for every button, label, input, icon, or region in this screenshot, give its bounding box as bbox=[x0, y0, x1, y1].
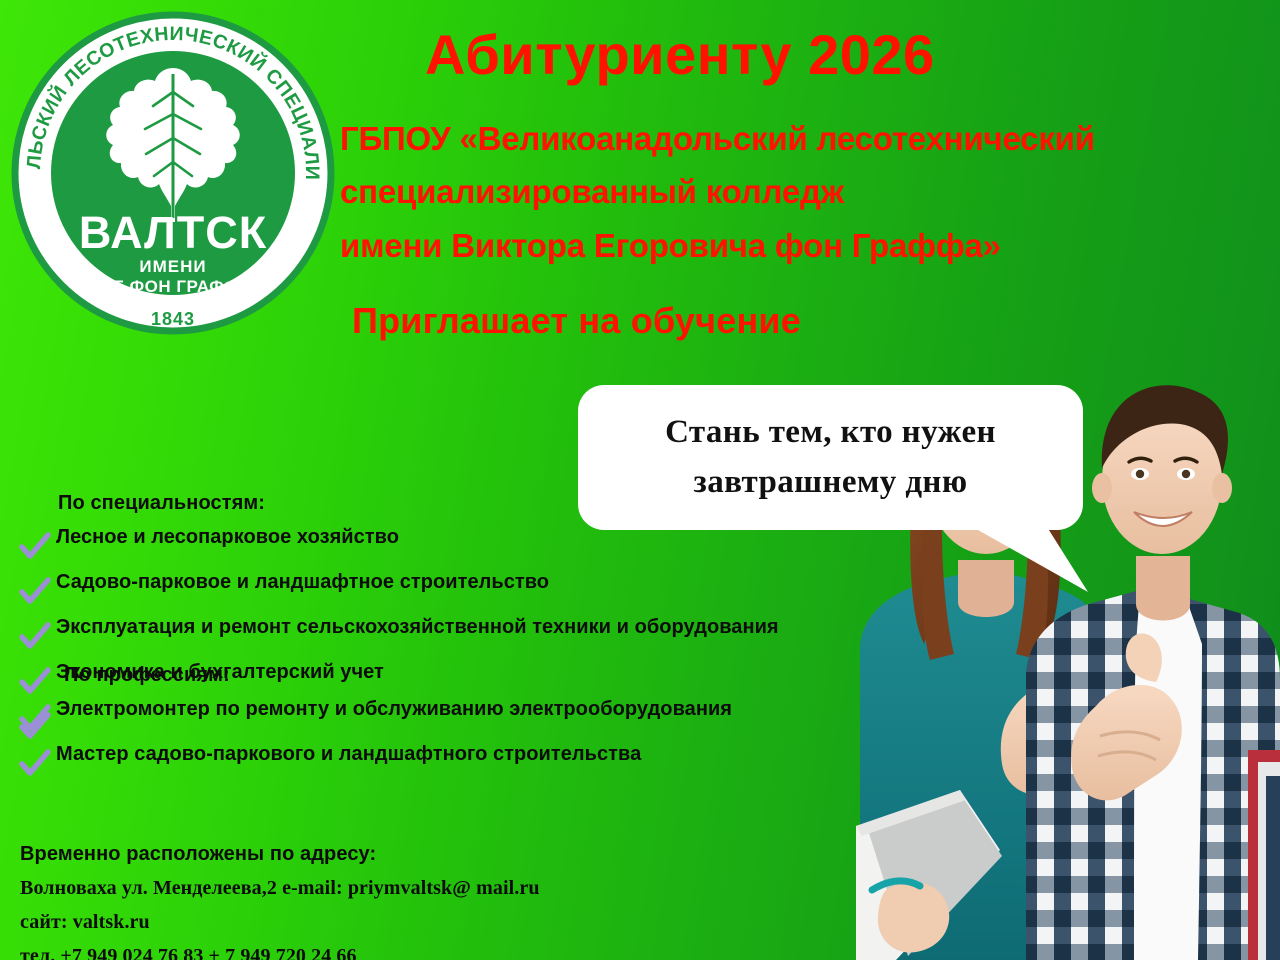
specialty-label: Лесное и лесопарковое хозяйство bbox=[56, 525, 399, 550]
contact-address-label: Временно расположены по адресу: bbox=[20, 843, 540, 866]
contact-address-email: Волноваха ул. Менделеева,2 e-mail: priym… bbox=[20, 877, 540, 900]
logo-abbr: ВАЛТСК bbox=[79, 207, 267, 258]
bubble-line-1: Стань тем, кто нужен bbox=[665, 408, 996, 458]
students-photo bbox=[850, 230, 1280, 960]
professions-title: По профессиям: bbox=[64, 664, 732, 687]
profession-label: Мастер садово-паркового и ландшафтного с… bbox=[56, 742, 641, 767]
contact-block: Временно расположены по адресу: Волновах… bbox=[20, 843, 540, 960]
list-item: Мастер садово-паркового и ландшафтного с… bbox=[20, 742, 732, 779]
logo-year: 1843 bbox=[151, 309, 195, 329]
check-icon bbox=[20, 706, 50, 734]
list-item: Садово-парковое и ландшафтное строительс… bbox=[20, 570, 779, 607]
list-item: Лесное и лесопарковое хозяйство bbox=[20, 525, 779, 562]
books bbox=[1248, 750, 1280, 960]
poster-root: ВЕЛИКОАНАДОЛЬСКИЙ ЛЕСОТЕХНИЧЕСКИЙ СПЕЦИА… bbox=[0, 0, 1280, 960]
page-title: Абитуриенту 2026 bbox=[425, 26, 935, 85]
notebook bbox=[856, 790, 1002, 960]
organization-name: ГБПОУ «Великоанадольский лесотехнический… bbox=[340, 112, 1270, 272]
invitation-text: Приглашает на обучение bbox=[352, 300, 801, 342]
contact-phone: тел. +7 949 024 76 83 + 7 949 720 24 66 bbox=[20, 945, 540, 960]
list-item: Электромонтер по ремонту и обслуживанию … bbox=[20, 697, 732, 734]
profession-label: Электромонтер по ремонту и обслуживанию … bbox=[56, 697, 732, 722]
check-icon bbox=[20, 751, 50, 779]
specialty-label: Садово-парковое и ландшафтное строительс… bbox=[56, 570, 549, 595]
logo-sub1: ИМЕНИ bbox=[139, 257, 206, 276]
check-icon bbox=[20, 624, 50, 652]
org-line-1: ГБПОУ «Великоанадольский лесотехнический bbox=[340, 112, 1270, 165]
org-line-3: имени Виктора Егоровича фон Граффа» bbox=[340, 219, 1270, 272]
check-icon bbox=[20, 534, 50, 562]
logo-sub2: В.Е.ФОН ГРАФФА bbox=[95, 277, 252, 296]
org-line-2: специализированный колледж bbox=[340, 165, 1270, 218]
contact-website: сайт: valtsk.ru bbox=[20, 911, 540, 934]
professions-section: По профессиям: Электромонтер по ремонту … bbox=[20, 664, 732, 787]
college-logo: ВЕЛИКОАНАДОЛЬСКИЙ ЛЕСОТЕХНИЧЕСКИЙ СПЕЦИА… bbox=[8, 8, 338, 338]
specialties-title: По специальностям: bbox=[58, 492, 779, 515]
check-icon bbox=[20, 579, 50, 607]
specialty-label: Эксплуатация и ремонт сельскохозяйственн… bbox=[56, 615, 779, 640]
list-item: Эксплуатация и ремонт сельскохозяйственн… bbox=[20, 615, 779, 652]
